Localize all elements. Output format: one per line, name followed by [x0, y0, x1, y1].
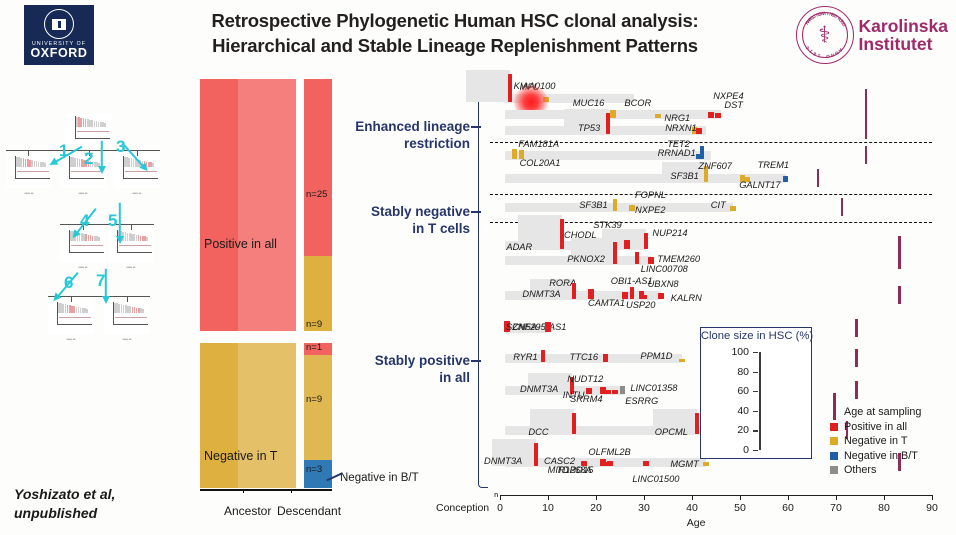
mutation-marker [620, 386, 626, 394]
clone-size-tick [753, 391, 758, 392]
mutation-marker [679, 359, 685, 362]
legend-label: Age at sampling [844, 406, 921, 418]
clone-size-axis [759, 352, 761, 450]
slide-title: Retrospective Phylogenetic Human HSC clo… [150, 8, 760, 58]
gene-label: LINC00708 [641, 264, 688, 274]
timeline-tick-label: 40 [686, 502, 698, 514]
schematic-arrowhead [102, 296, 110, 304]
mutation-marker [512, 149, 518, 159]
mosaic-count-label: n=9 [306, 319, 322, 330]
gene-label: COL20A1 [520, 158, 561, 168]
clone-size-tick [753, 430, 758, 431]
age-at-sampling-bar [855, 319, 858, 337]
gene-label: UBXN8 [648, 279, 679, 289]
tree-connector [48, 296, 150, 297]
karolinska-line2: Institutet [859, 35, 948, 53]
gene-label: NUP214 [652, 228, 687, 238]
clone-size-tick [753, 352, 758, 353]
mutation-marker [603, 354, 609, 362]
gene-label: MIR1268A [548, 465, 592, 475]
mosaic-count-label: n=9 [306, 394, 322, 405]
mutation-marker [700, 146, 704, 159]
gene-label: NXPE2 [635, 205, 666, 215]
gene-label: USP20 [626, 300, 655, 310]
mutation-marker [630, 287, 634, 299]
gene-label: NUDT12 [567, 374, 603, 384]
schematic-arrow-number: 2 [84, 150, 93, 167]
timeline-tick-label: 50 [734, 502, 746, 514]
lifeline-bar [505, 203, 733, 212]
mutation-marker [715, 113, 721, 118]
karolinska-logo: ⚕ KAROLINSKA INSTITUTETANNO 1810 Karolin… [796, 6, 948, 64]
gene-label: BCOR [624, 98, 651, 108]
gene-label: CIT [711, 200, 726, 210]
mini-plot: •••••• ••• [108, 228, 154, 262]
tree-connector [131, 224, 132, 230]
clone-size-tick-label: 80 [737, 366, 749, 378]
citation-line-1: Yoshizato et al, [14, 485, 115, 504]
mutation-marker [644, 233, 648, 250]
gene-label: OPCML [655, 427, 688, 437]
mosaic-axis-label: Ancestor [224, 504, 271, 518]
gene-label: OBI1-AS1 [611, 276, 653, 286]
gene-label: TP53 [578, 123, 600, 133]
category-label: Enhanced lineagerestriction [330, 118, 470, 152]
mutation-marker [508, 74, 512, 103]
mosaic-cell [238, 343, 296, 488]
category-label-line2: in T cells [330, 220, 470, 237]
gene-label: SF3B1 [579, 200, 607, 210]
mini-plot: •••••• ••• [48, 300, 94, 334]
tree-connector [28, 150, 29, 156]
mutation-marker [613, 199, 617, 211]
mutation-marker [641, 295, 647, 299]
category-label: Stably positivein all [330, 352, 470, 386]
legend-item: Positive in all [830, 420, 954, 435]
clone-size-legend-box: 100806040200 [700, 327, 812, 459]
mini-plot: •••••• ••• [6, 154, 52, 188]
clone-size-legend-title: Clone size in HSC (%) [698, 330, 816, 342]
gene-label: CAMTA1 [588, 298, 625, 308]
clone-size-tick [753, 411, 758, 412]
mini-plot: •••••• ••• [60, 228, 106, 262]
group-separator [490, 194, 932, 195]
legend-item: Others [830, 463, 954, 478]
category-label-line1: Stably positive [330, 352, 470, 369]
title-line-2: Hierarchical and Stable Lineage Replenis… [150, 33, 760, 58]
gene-label: ADAR [506, 242, 532, 252]
gene-label: ZNF607 [698, 161, 732, 171]
category-label-line1: Stably negative [330, 203, 470, 220]
gene-label: DNMT3A [520, 384, 558, 394]
karolinska-line1: Karolinska [859, 17, 948, 35]
mutation-marker [605, 390, 611, 394]
gene-label: RYR1 [513, 352, 537, 362]
age-at-sampling-bar [855, 349, 858, 367]
age-at-sampling-bar [817, 169, 820, 187]
clone-size-tick-label: 20 [737, 424, 749, 436]
gene-label: STK39 [593, 220, 621, 230]
tree-connector [60, 224, 154, 225]
legend-label: Others [844, 464, 876, 476]
timeline-left-brace [478, 76, 488, 488]
mosaic-axis-tick [243, 489, 244, 493]
mutation-marker [541, 350, 545, 362]
legend-swatch [830, 437, 838, 445]
age-at-sampling-bar [855, 381, 858, 399]
timeline-tick [932, 495, 933, 500]
mutation-marker [612, 390, 618, 394]
conception-label: Conception [436, 502, 489, 514]
mosaic-cell [238, 79, 296, 331]
gene-label: PKNOX2 [567, 254, 605, 264]
timeline-tick-label: 30 [638, 502, 650, 514]
gene-label: NRXN1 [665, 123, 697, 133]
mosaic-count-label: n=3 [306, 464, 322, 475]
tree-connector [71, 296, 72, 302]
mutation-marker [655, 114, 661, 118]
mutation-marker [783, 176, 789, 182]
category-label-line2: restriction [330, 135, 470, 152]
mutation-marker [708, 112, 714, 118]
gene-label: TMEM260 [657, 254, 700, 264]
legend-swatch [830, 452, 838, 460]
timeline-tick-label: 90 [926, 502, 938, 514]
category-label-line2: in all [330, 369, 470, 386]
citation: Yoshizato et al, unpublished [14, 485, 115, 523]
tree-connector [137, 150, 138, 156]
mutation-marker [730, 206, 736, 211]
legend-label: Negative in T [844, 435, 907, 447]
timeline-tick-label: 10 [542, 502, 554, 514]
legend-swatch [830, 423, 838, 431]
mosaic-count-label: n=1 [306, 342, 322, 353]
caduceus-seal-icon: ⚕ KAROLINSKA INSTITUTETANNO 1810 [796, 6, 854, 64]
age-at-sampling-bar [841, 198, 844, 216]
clone-size-tick [753, 372, 758, 373]
mutation-marker [610, 110, 616, 118]
timeline-tick [596, 495, 597, 500]
age-at-sampling-bar [865, 146, 868, 164]
timeline-tick-label: 80 [878, 502, 890, 514]
gene-label: RRNAD1 [658, 148, 696, 158]
mutation-marker [635, 252, 639, 264]
schematic-arrow-number: 7 [96, 272, 105, 289]
gene-label: FAM181A [518, 139, 559, 149]
gene-label: SF3B1 [670, 171, 698, 181]
mutation-marker [534, 443, 538, 466]
gene-label: KALRN [671, 293, 702, 303]
timeline-tick-label: 60 [782, 502, 794, 514]
gene-label: TTC16 [570, 352, 598, 362]
gene-label: SCN5A [506, 322, 537, 332]
age-at-sampling-bar [898, 286, 901, 304]
phylogeny-schematic-thumbnail: •••••• ••••••••• ••••••••• ••••••••• •••… [4, 120, 194, 370]
mutation-marker [643, 461, 649, 466]
mosaic-cell [304, 79, 332, 256]
clone-size-tick-label: 40 [737, 405, 749, 417]
legend-swatch [830, 466, 838, 474]
mosaic-axis [200, 489, 332, 491]
gene-label: SRRM4 [570, 394, 603, 404]
title-line-1: Retrospective Phylogenetic Human HSC clo… [150, 8, 760, 33]
timeline-tick [692, 495, 693, 500]
timeline-x-axis-label: Age [687, 517, 706, 529]
age-at-sampling-bar [865, 121, 868, 139]
timeline-tick [644, 495, 645, 500]
timeline-axis [500, 495, 932, 496]
mosaic-row-label: Positive in all [204, 237, 277, 251]
legend-swatch [833, 405, 836, 420]
mosaic-cell [200, 343, 238, 488]
gene-label: PPM1D [640, 351, 672, 361]
timeline-tick [884, 495, 885, 500]
gene-label: LINC01500 [632, 474, 679, 484]
schematic-arrowhead [98, 166, 106, 174]
mini-plot: •••••• ••• [104, 300, 150, 334]
oxford-crest-icon [44, 9, 74, 39]
mosaic-plot: Positive in allNegative in Tn=25n=9n=1n=… [200, 79, 332, 488]
legend-label: Negative in B/T [844, 450, 918, 462]
mutation-marker [696, 128, 702, 134]
oxford-name-text: OXFORD [30, 47, 87, 60]
mutation-marker [606, 113, 610, 134]
timeline-tick [548, 495, 549, 500]
mosaic-cell [200, 79, 238, 331]
gene-label: DST [724, 100, 743, 110]
clone-size-block [466, 70, 510, 103]
legend-item: Negative in T [830, 434, 954, 449]
schematic-arrowhead [116, 236, 124, 244]
oxford-logo: UNIVERSITY OF OXFORD [24, 5, 94, 65]
negative-bt-annotation: Negative in B/T [340, 472, 419, 484]
mutation-marker [603, 462, 609, 466]
mutation-marker [572, 413, 576, 434]
timeline-tick [500, 495, 501, 500]
legend-label: Positive in all [844, 421, 907, 433]
timeline-tick [836, 495, 837, 500]
schematic-arrow-number: 5 [108, 212, 117, 229]
timeline-tick [788, 495, 789, 500]
gene-label: DNMT3A [522, 289, 560, 299]
mutation-marker [545, 322, 551, 332]
clone-size-tick-label: 0 [743, 444, 749, 456]
gene-label: FOPNL [635, 190, 666, 200]
gene-label: DCC [528, 427, 548, 437]
tree-connector [127, 296, 128, 302]
legend-item: Negative in B/T [830, 449, 954, 464]
mosaic-count-label: n=25 [306, 189, 327, 200]
category-label: Stably negativein T cells [330, 203, 470, 237]
mutation-marker [695, 413, 699, 434]
timeline-tick-label: 20 [590, 502, 602, 514]
mosaic-axis-label: Descendant [277, 504, 341, 518]
mutation-marker [624, 240, 630, 249]
mutation-marker [703, 462, 709, 466]
gene-label: TREM1 [758, 160, 790, 170]
mutation-marker [648, 257, 654, 264]
color-legend: Age at samplingPositive in allNegative i… [830, 405, 954, 478]
mutation-marker [572, 283, 576, 300]
gene-label: ESRRG [625, 396, 658, 406]
mosaic-row-label: Negative in T [204, 449, 277, 463]
mosaic-axis-tick [291, 489, 292, 493]
mosaic-cell [304, 355, 332, 460]
axis-break-icon: ⁿ [494, 489, 498, 503]
gene-label: DNMT3A [484, 456, 522, 466]
timeline-tick [740, 495, 741, 500]
karolinska-wordmark: Karolinska Institutet [859, 17, 948, 53]
category-label-line1: Enhanced lineage [330, 118, 470, 135]
mutation-marker [658, 293, 664, 299]
citation-line-2: unpublished [14, 504, 115, 523]
gene-label: MUC16 [573, 98, 605, 108]
legend-item: Age at sampling [830, 405, 954, 420]
mutation-marker [613, 242, 617, 265]
mini-plot: •••••• ••• [66, 114, 112, 148]
age-at-sampling-bar [898, 251, 901, 269]
gene-label: GALNT17 [739, 180, 780, 190]
gene-label: LINC01358 [630, 383, 677, 393]
clone-size-tick-label: 100 [731, 346, 749, 358]
clone-size-tick [753, 450, 758, 451]
gene-label: MGMT [670, 459, 698, 469]
gene-label: NRG1 [664, 113, 690, 123]
gene-label: OLFML2B [588, 447, 630, 457]
timeline-tick-label: 0 [497, 502, 503, 514]
timeline-tick-label: 70 [830, 502, 842, 514]
clone-size-tick-label: 60 [737, 385, 749, 397]
